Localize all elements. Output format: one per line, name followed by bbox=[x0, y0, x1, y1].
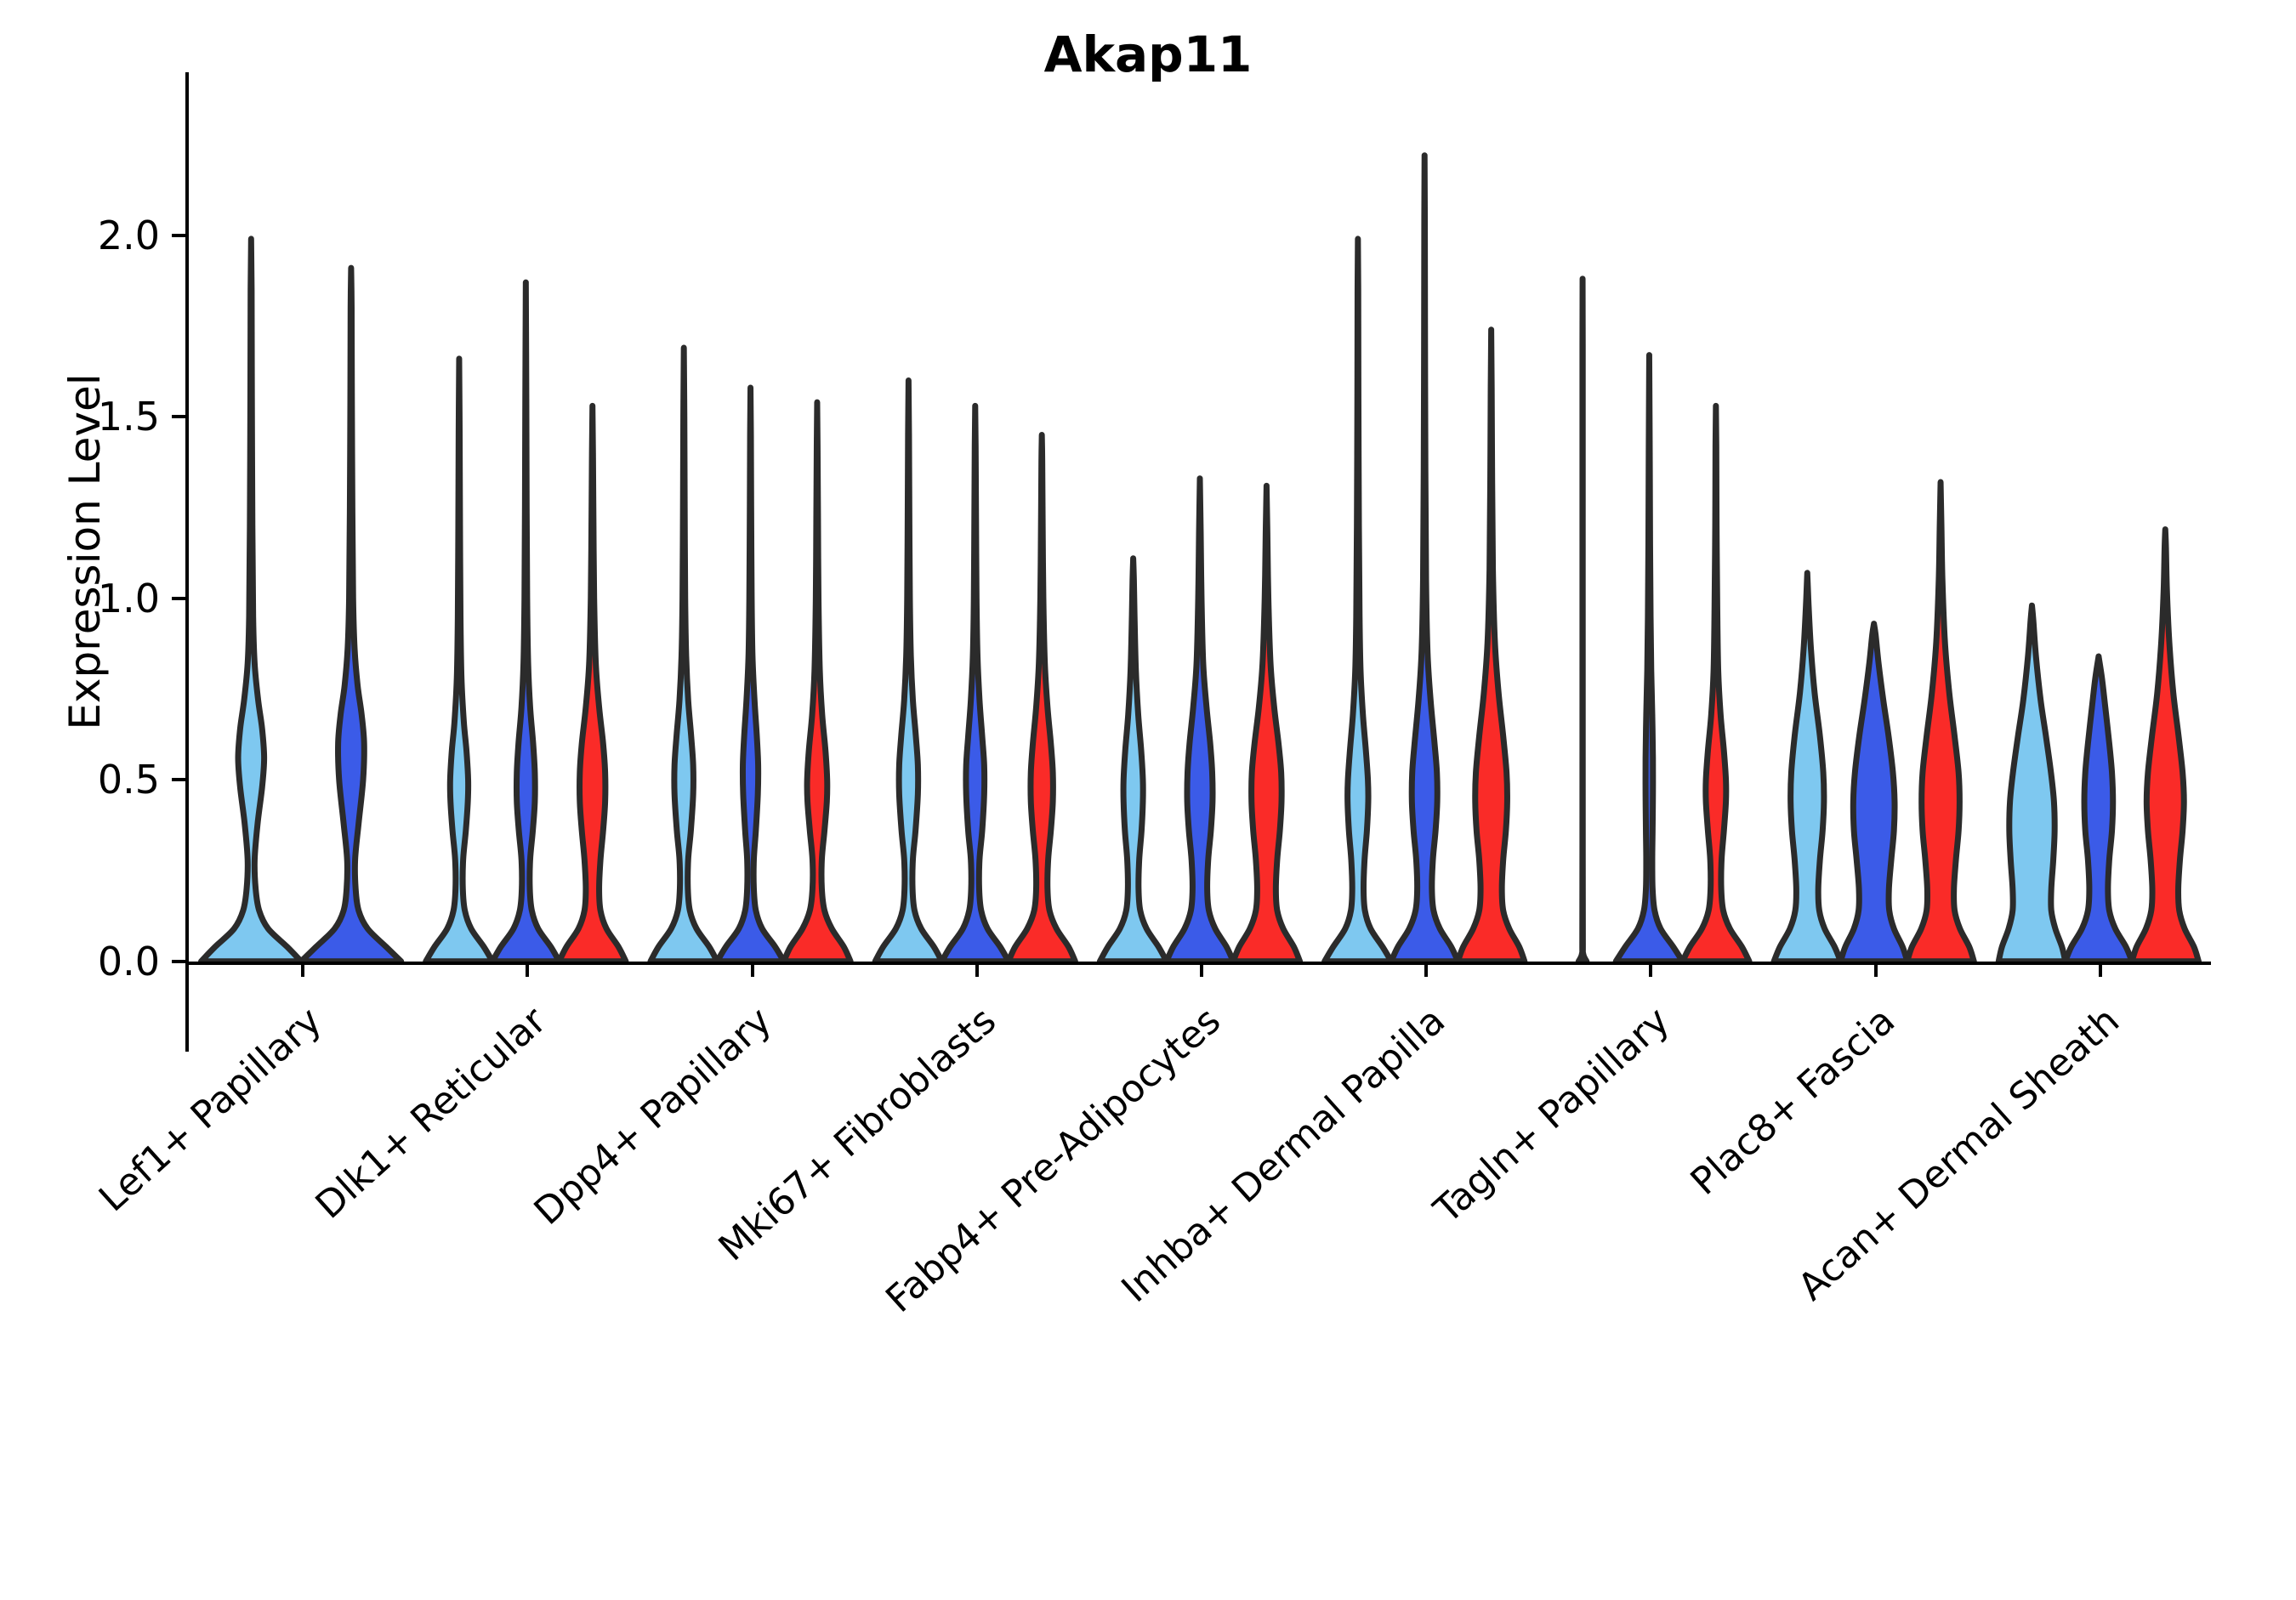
violin-shape bbox=[202, 239, 302, 962]
violin-shape bbox=[1325, 239, 1391, 962]
x-tick-mark bbox=[751, 963, 754, 977]
y-tick-label: 2.0 bbox=[58, 213, 160, 258]
violin-shape bbox=[1009, 435, 1075, 962]
y-tick-label: 0.5 bbox=[58, 757, 160, 803]
y-tick-label: 1.5 bbox=[58, 394, 160, 440]
x-tick-mark bbox=[1874, 963, 1878, 977]
violin-shape bbox=[1167, 479, 1233, 962]
y-tick-label: 1.0 bbox=[58, 576, 160, 621]
violin-shape bbox=[426, 359, 492, 962]
violin-shape bbox=[875, 380, 941, 961]
violin-shape bbox=[1998, 605, 2065, 962]
y-tick-label: 0.0 bbox=[58, 939, 160, 984]
x-tick-mark bbox=[1424, 963, 1428, 977]
violin-shape bbox=[2066, 656, 2132, 962]
x-tick-mark bbox=[1200, 963, 1203, 977]
violin-shape bbox=[942, 406, 1009, 961]
violin-plot-figure: Akap11 Expression Level 0.00.51.01.52.0 … bbox=[0, 0, 2296, 1530]
y-tick-mark bbox=[172, 960, 185, 963]
violin-shape bbox=[1391, 156, 1458, 962]
violin-shape bbox=[301, 268, 401, 962]
x-tick-mark bbox=[2099, 963, 2102, 977]
violin-shape bbox=[1578, 279, 1586, 962]
x-tick-mark bbox=[1649, 963, 1652, 977]
violin-shape bbox=[1683, 406, 1749, 961]
y-tick-mark bbox=[172, 597, 185, 600]
violin-shape bbox=[1907, 482, 1974, 962]
violin-shape bbox=[1616, 355, 1682, 962]
y-tick-mark bbox=[172, 415, 185, 418]
violins-layer bbox=[202, 156, 2199, 962]
x-tick-mark bbox=[975, 963, 979, 977]
y-tick-mark bbox=[172, 778, 185, 781]
violin-shape bbox=[651, 348, 717, 962]
violin-shape bbox=[560, 406, 626, 961]
violin-shape bbox=[492, 282, 559, 962]
violin-shape bbox=[784, 402, 850, 962]
x-tick-mark bbox=[526, 963, 529, 977]
violin-shape bbox=[1233, 485, 1299, 961]
violin-shape bbox=[1458, 330, 1524, 962]
violin-shape bbox=[1840, 624, 1907, 962]
violin-shape bbox=[1774, 573, 1840, 962]
x-tick-mark bbox=[301, 963, 304, 977]
violin-shape bbox=[1100, 559, 1166, 962]
violin-shape bbox=[2132, 530, 2198, 962]
y-tick-mark bbox=[172, 234, 185, 237]
y-axis-line bbox=[185, 72, 189, 1052]
violin-shape bbox=[717, 388, 783, 962]
